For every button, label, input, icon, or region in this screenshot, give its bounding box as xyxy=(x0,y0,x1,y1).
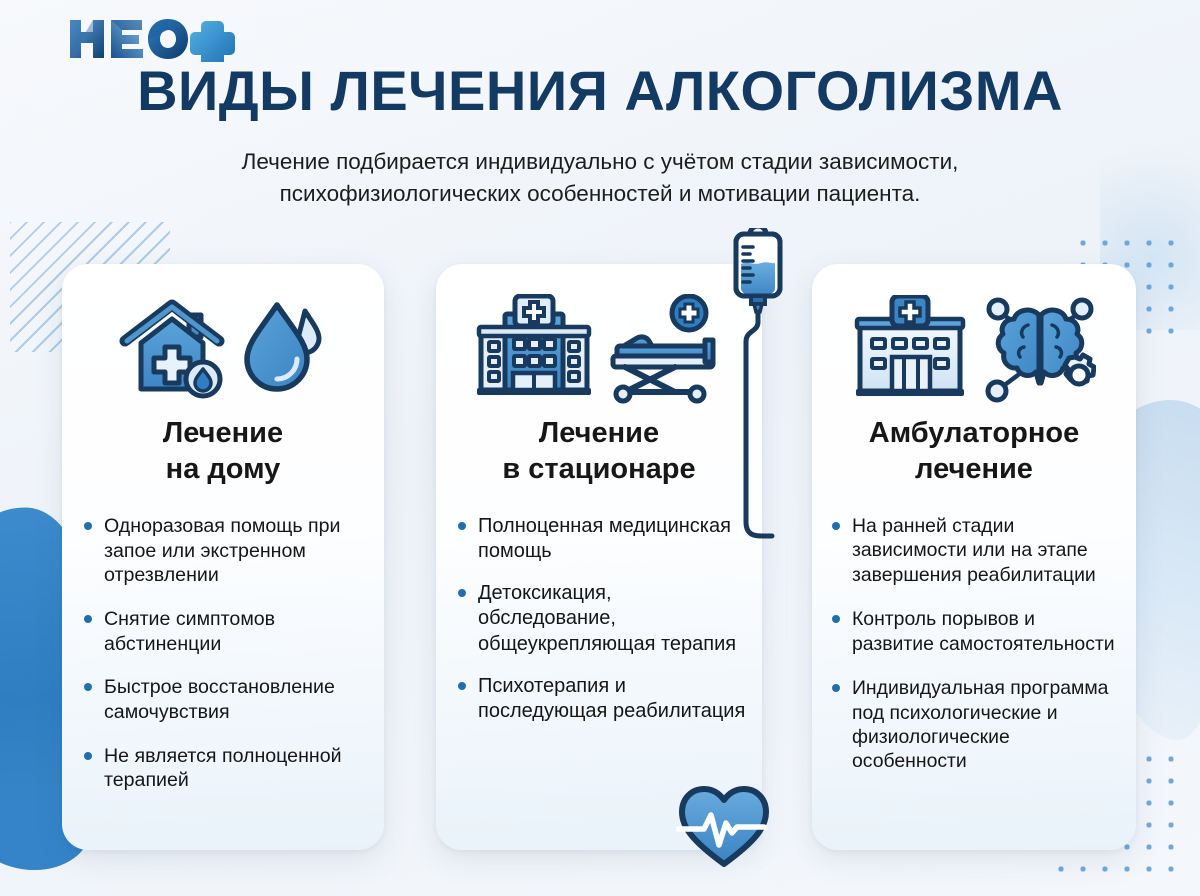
card-1-title-line-1: Лечение xyxy=(74,416,372,452)
list-item: Одноразовая помощь при запое или экстрен… xyxy=(84,514,368,588)
card-3-icons xyxy=(812,264,1136,414)
card-2-title-line-2: в стационаре xyxy=(448,452,750,488)
heart-pulse-icon xyxy=(676,782,772,875)
card-1-title-line-2: на дому xyxy=(74,452,372,488)
card-2-icons xyxy=(436,264,762,414)
card-3-title-line-1: Амбулаторное xyxy=(824,416,1124,452)
card-3-title: Амбулаторное лечение xyxy=(812,414,1136,488)
list-item: Контроль порывов и развитие самостоятель… xyxy=(832,607,1120,656)
card-home-treatment[interactable]: Лечение на дому Одноразовая помощь при з… xyxy=(62,264,384,850)
list-item: Полноценная медицинская помощь xyxy=(458,514,746,564)
hospital-bed-icon xyxy=(609,294,723,404)
list-item: На ранней стадии зависимости или на этап… xyxy=(832,514,1120,587)
card-2-title: Лечение в стационаре xyxy=(436,414,762,488)
treatment-cards: Лечение на дому Одноразовая помощь при з… xyxy=(0,0,1200,896)
water-drop-icon xyxy=(243,297,327,401)
list-item: Детоксикация, обследование, общеукрепляю… xyxy=(458,581,746,657)
card-1-icons xyxy=(62,264,384,414)
list-item: Не является полноценной терапией xyxy=(84,744,368,793)
card-2-bullet-list: Полноценная медицинская помощь Детоксика… xyxy=(436,514,762,724)
hospital-building-icon xyxy=(475,294,593,404)
list-item: Быстрое восстановление самочувствия xyxy=(84,675,368,724)
list-item: Снятие симптомов абстиненции xyxy=(84,607,368,656)
card-1-bullet-list: Одноразовая помощь при запое или экстрен… xyxy=(62,514,384,793)
iv-drip-icon xyxy=(726,228,790,563)
clinic-building-icon xyxy=(852,295,968,403)
card-outpatient-treatment[interactable]: Амбулаторное лечение На ранней стадии за… xyxy=(812,264,1136,850)
house-medical-icon xyxy=(119,297,227,401)
card-2-title-line-1: Лечение xyxy=(448,416,750,452)
card-1-title: Лечение на дому xyxy=(62,414,384,488)
card-3-bullet-list: На ранней стадии зависимости или на этап… xyxy=(812,514,1136,774)
list-item: Психотерапия и последующая реабилитация xyxy=(458,674,746,724)
brain-gear-icon xyxy=(984,295,1096,403)
list-item: Индивидуальная программа под психологиче… xyxy=(832,676,1120,774)
card-inpatient-treatment[interactable]: Лечение в стационаре Полноценная медицин… xyxy=(436,264,762,850)
card-3-title-line-2: лечение xyxy=(824,452,1124,488)
